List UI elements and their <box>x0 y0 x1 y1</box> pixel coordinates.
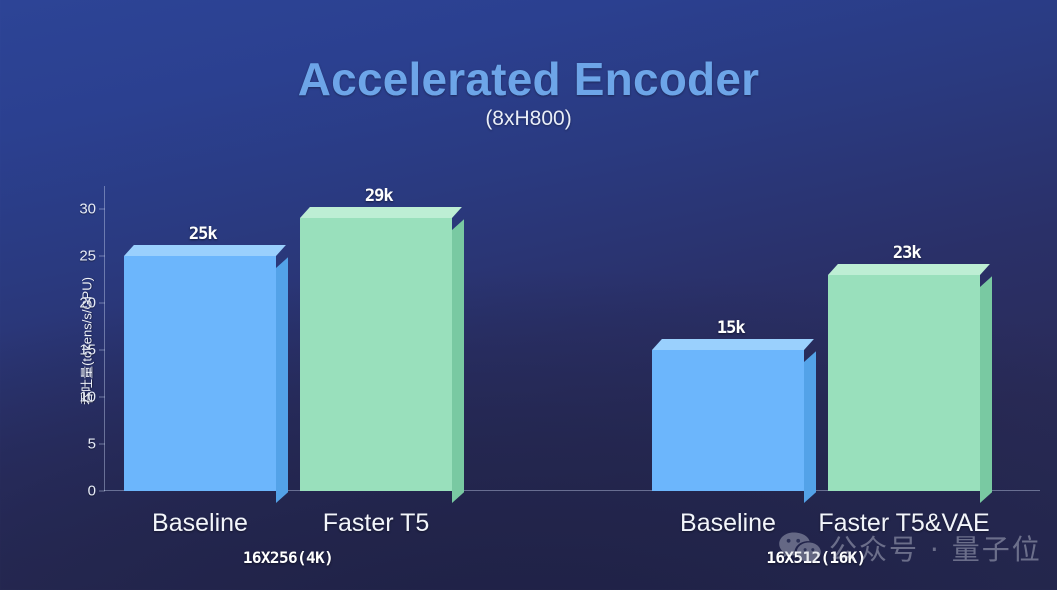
bar-blue <box>652 350 804 491</box>
y-axis-tick-label: 25 <box>56 247 96 264</box>
bar-value-label: 15k <box>717 318 745 338</box>
bar-value-label: 25k <box>189 224 217 244</box>
y-axis-tick-label: 15 <box>56 341 96 358</box>
y-axis-tick-mark <box>99 443 105 444</box>
page-subtitle: (8xH800) <box>0 107 1057 131</box>
group-label: 16X512(16K) <box>766 548 865 567</box>
bar-value-label: 23k <box>893 243 921 263</box>
y-axis-tick-mark <box>99 302 105 303</box>
bar-front-face <box>828 275 980 491</box>
slide-canvas: Accelerated Encoder (8xH800) 吞吐量(tokens/… <box>0 0 1057 590</box>
y-axis-tick-mark <box>99 396 105 397</box>
y-axis-tick-label: 0 <box>56 483 96 500</box>
bar-top-face <box>652 339 814 350</box>
y-axis-tick-mark <box>99 349 105 350</box>
bar-top-face <box>300 207 462 218</box>
y-axis-tick-label: 10 <box>56 388 96 405</box>
category-label: Baseline <box>152 509 248 538</box>
page-title: Accelerated Encoder <box>0 52 1057 106</box>
bar-front-face <box>300 218 452 491</box>
bar-blue <box>124 256 276 491</box>
y-axis-tick-label: 30 <box>56 200 96 217</box>
bar-value-label: 29k <box>365 186 393 206</box>
bar-side-face <box>980 276 992 503</box>
bar-top-face <box>828 264 990 275</box>
bar-side-face <box>452 219 464 503</box>
y-axis-tick-mark <box>99 491 105 492</box>
y-axis-tick-mark <box>99 208 105 209</box>
bar-top-face <box>124 245 286 256</box>
category-label: Baseline <box>680 509 776 538</box>
category-label: Faster T5&VAE <box>818 509 989 538</box>
bar-front-face <box>652 350 804 491</box>
y-axis-line <box>104 186 105 491</box>
category-label: Faster T5 <box>323 509 430 538</box>
bar-green <box>828 275 980 491</box>
y-axis-tick-mark <box>99 255 105 256</box>
bar-side-face <box>276 257 288 503</box>
y-axis-tick-label: 20 <box>56 294 96 311</box>
bar-chart: 吞吐量(tokens/s/GPU) 051015202530 25k29k15k… <box>104 190 1040 491</box>
y-axis-tick-label: 5 <box>56 435 96 452</box>
bar-green <box>300 218 452 491</box>
bar-front-face <box>124 256 276 491</box>
group-label: 16X256(4K) <box>243 548 333 567</box>
bar-side-face <box>804 351 816 503</box>
